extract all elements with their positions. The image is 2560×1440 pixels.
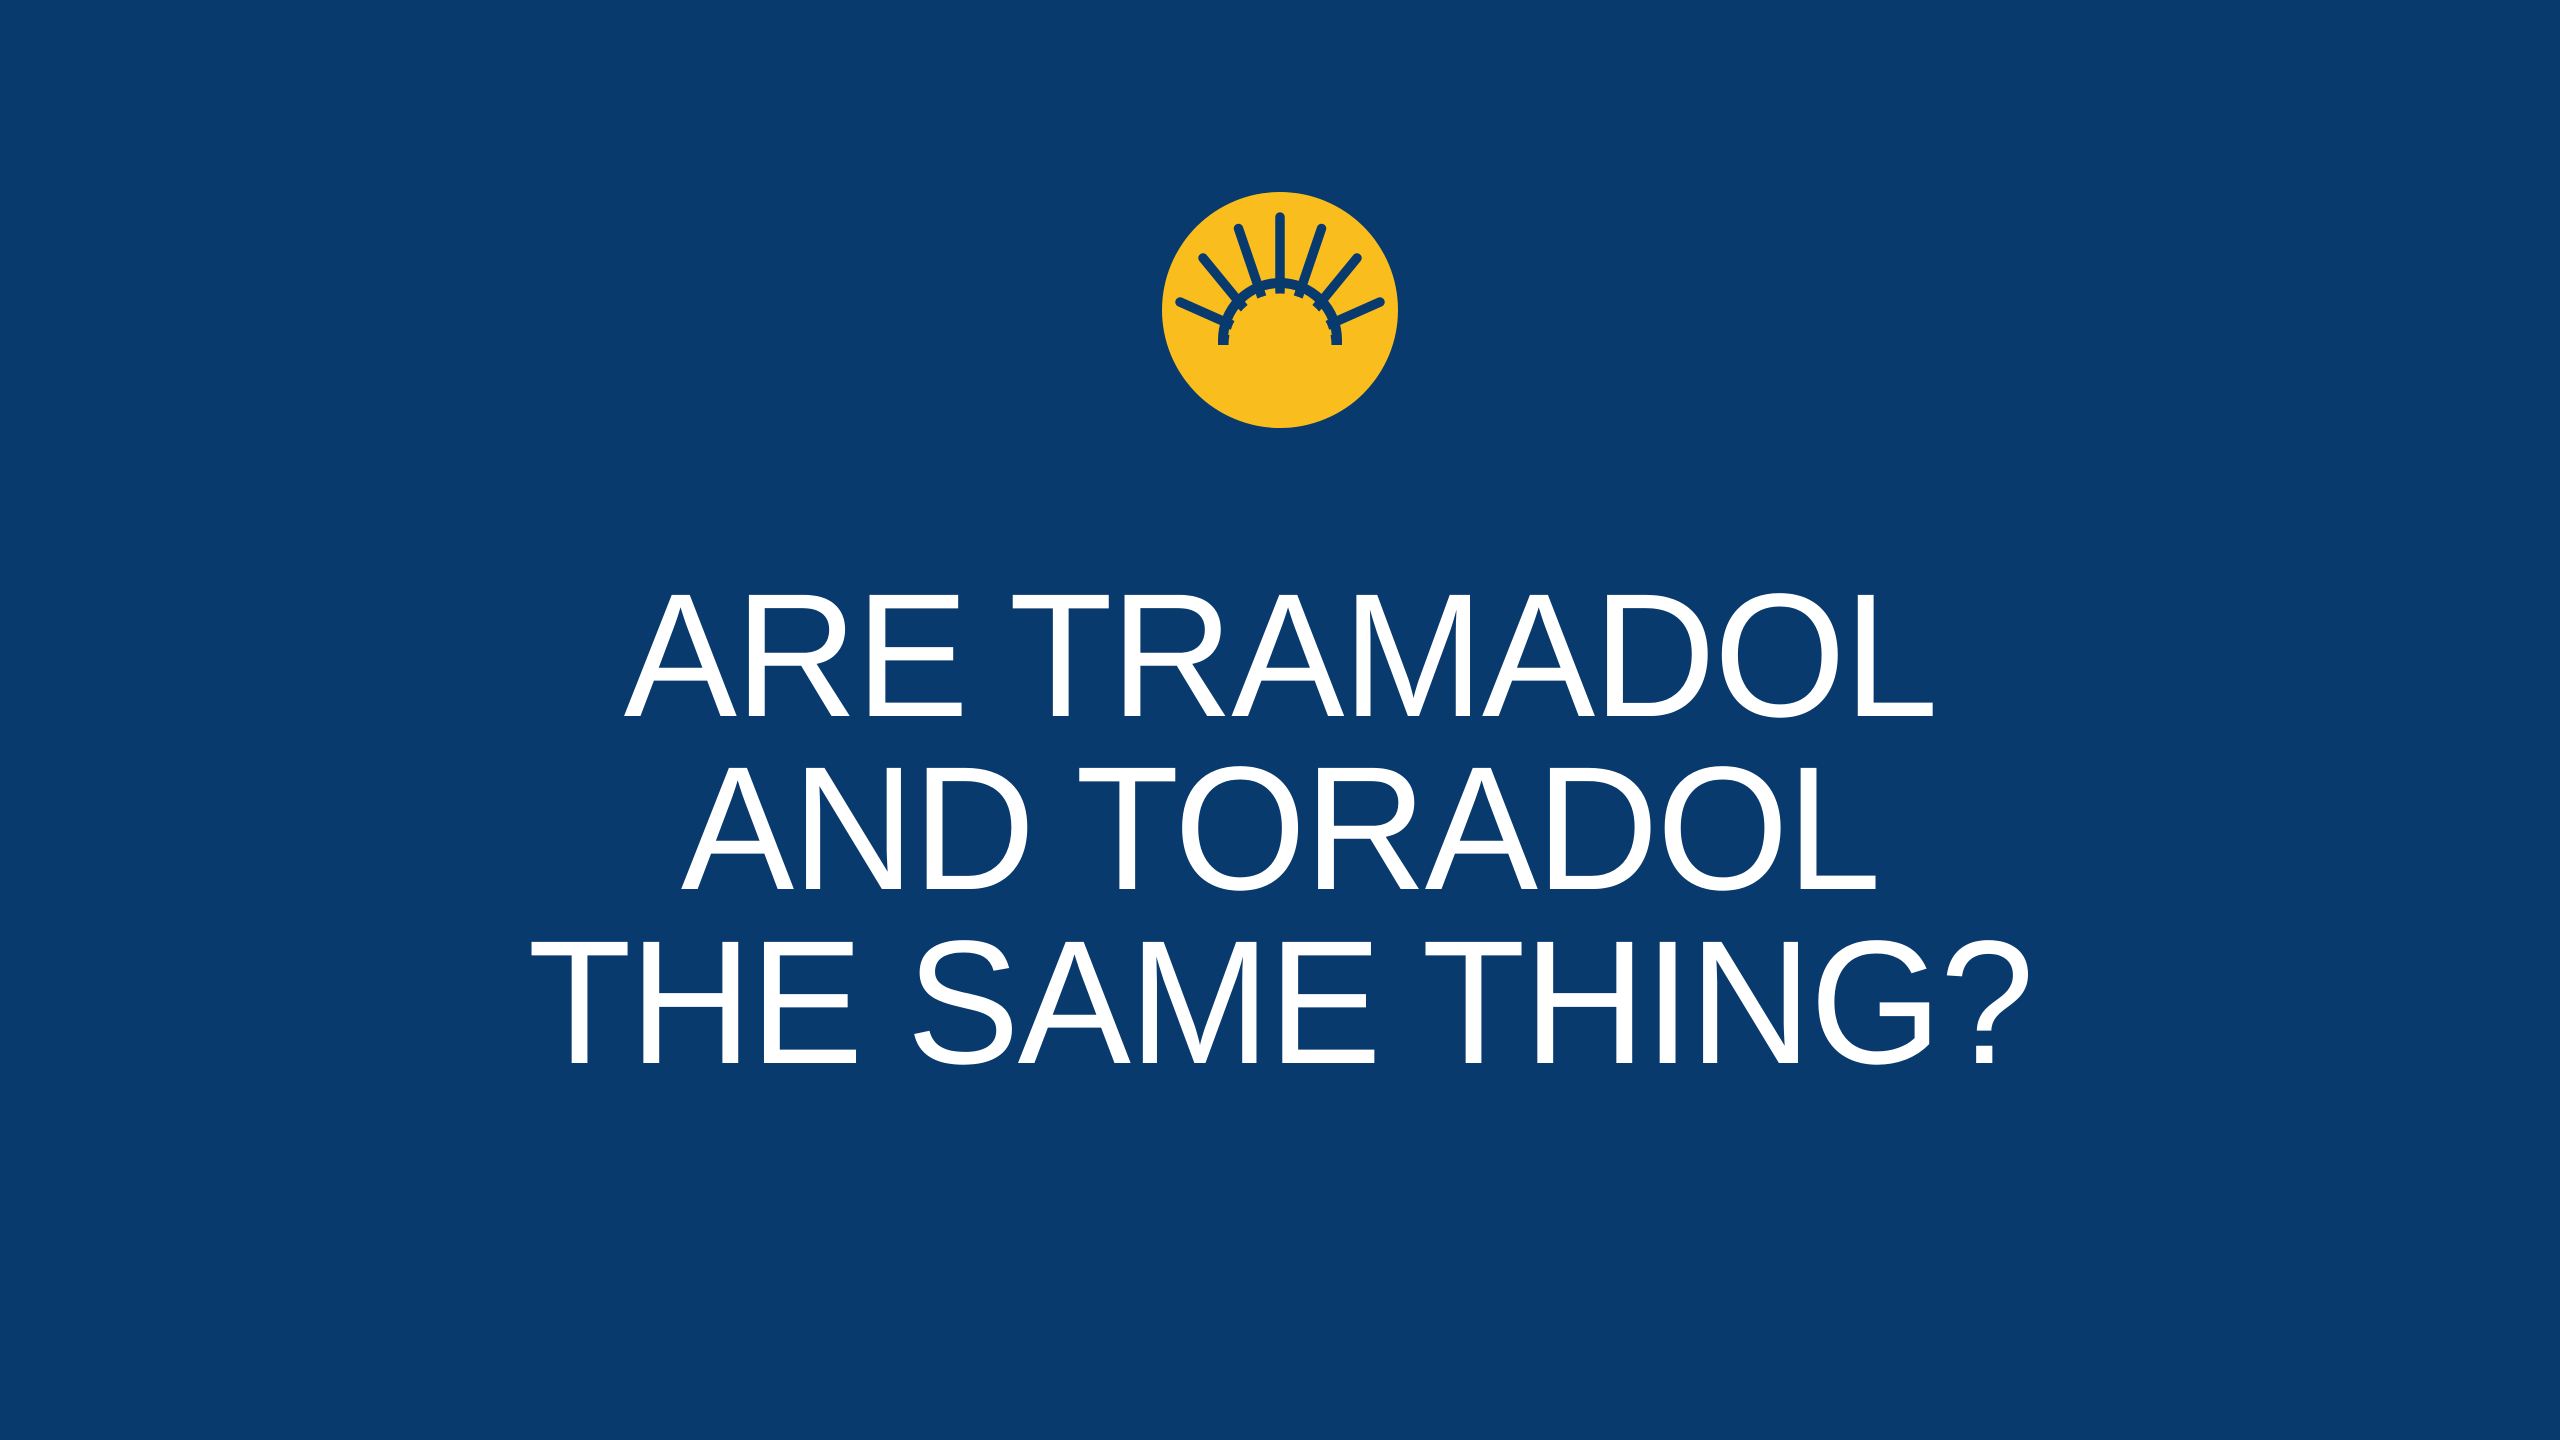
slide-canvas: ARE TRAMADOL AND TORADOL THE SAME THING? — [0, 0, 2560, 1440]
headline-line-3: THE SAME THING? — [45, 917, 2515, 1090]
headline-line-2: AND TORADOL — [45, 743, 2515, 916]
sunrise-logo-icon — [1160, 190, 1400, 430]
logo-container — [0, 190, 2560, 430]
headline-line-1: ARE TRAMADOL — [45, 570, 2515, 743]
page-title: ARE TRAMADOL AND TORADOL THE SAME THING? — [0, 570, 2560, 1090]
